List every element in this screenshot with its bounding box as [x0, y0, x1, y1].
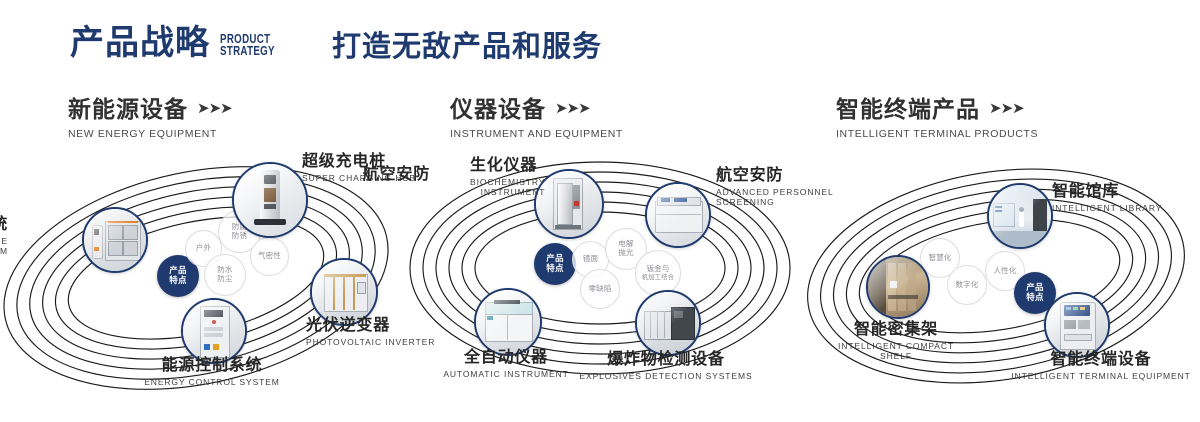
diagram-instrument: 产品 特点 镜面 电解 抛光 零缺陷 钣金与 机加工结合 [400, 150, 800, 420]
section-title-new-energy: 新能源设备➤➤➤ NEW ENERGY EQUIPMENT [68, 98, 232, 140]
feature-bubble-zero-defect: 零缺陷 [580, 269, 620, 309]
node-intelligent-compact-shelf[interactable] [866, 255, 930, 319]
chevron-right-icon: ➤➤➤ [989, 99, 1024, 117]
brand-title: 产品战略 PRODUCT STRATEGY [70, 26, 290, 60]
slide-canvas: 产品战略 PRODUCT STRATEGY 打造无敌产品和服务 新能源设备➤➤➤… [0, 0, 1200, 422]
label-en-line2: INSTRUMENT [470, 187, 545, 198]
section-title-en: INTELLIGENT TERMINAL PRODUCTS [836, 128, 1038, 140]
section-title-instrument: 仪器设备➤➤➤ INSTRUMENT AND EQUIPMENT [450, 98, 623, 140]
feature-core-product-traits: 产品 特点 [534, 243, 576, 285]
section-title-intelligent-terminal: 智能终端产品➤➤➤ INTELLIGENT TERMINAL PRODUCTS [836, 98, 1038, 140]
diagram-new-energy: 产品 特点 户外 防腐 防锈 防水 防尘 气密性 [0, 150, 400, 420]
core-line2: 特点 [1026, 293, 1044, 303]
node-automatic-instrument[interactable] [474, 288, 542, 356]
feature-bubble-sheetmetal-machining: 钣金与 机加工结合 [635, 250, 681, 296]
core-line2: 特点 [546, 264, 564, 274]
feature-bubble-airtightness: 气密性 [250, 237, 289, 276]
label-energy-control-system: 能源控制系统 ENERGY CONTROL SYSTEM [82, 358, 342, 387]
section-title-en: NEW ENERGY EQUIPMENT [68, 128, 232, 140]
label-biochemistry-instrument: 生化仪器 BIOCHEMISTRY INSTRUMENT [470, 158, 545, 198]
chevron-right-icon: ➤➤➤ [197, 99, 232, 117]
label-aviation-security: 航空安防 [320, 167, 430, 184]
brand-title-en-line2: STRATEGY [220, 45, 275, 58]
section-title-cn: 新能源设备 [68, 98, 188, 121]
label-intelligent-terminal-equipment: 智能终端设备 INTELLIGENT TERMINAL EQUIPMENT [986, 352, 1200, 381]
label-energy-storage-system: 储能系统 ENERGY STORAGE SYSTEM [0, 217, 8, 257]
chevron-right-icon: ➤➤➤ [555, 99, 590, 117]
node-photovoltaic-inverter[interactable] [310, 258, 378, 326]
label-explosives-detection-systems: 爆炸物检测设备 EXPLOSIVES DETECTION SYSTEMS [556, 352, 776, 381]
node-super-charging-hub[interactable] [232, 162, 308, 238]
node-advanced-personnel-screening[interactable] [645, 182, 711, 248]
brand-title-cn: 产品战略 [70, 26, 210, 60]
label-en-line1: ENERGY STORAGE [0, 236, 8, 247]
label-en-line1: BIOCHEMISTRY [470, 177, 545, 188]
diagram-intelligent-terminal: 智慧化 数字化 人性化 产品 特点 智能馆库 [790, 150, 1190, 420]
node-intelligent-terminal-equipment[interactable] [1044, 292, 1110, 358]
brand-title-en: PRODUCT STRATEGY [220, 33, 275, 59]
section-title-cn: 智能终端产品 [836, 98, 980, 121]
label-intelligent-library: 智能馆库 INTELLIGENT LIBRARY [1052, 184, 1162, 213]
feature-bubble-waterproof: 防水 防尘 [204, 254, 246, 296]
label-intelligent-compact-shelf: 智能密集架 INTELLIGENT COMPACT SHELF [806, 322, 986, 362]
section-title-cn: 仪器设备 [450, 98, 546, 121]
feature-bubble-digital: 数字化 [947, 265, 987, 305]
node-energy-control-system[interactable] [181, 298, 247, 364]
label-en-line2: SHELF [806, 351, 986, 362]
node-explosives-detection-systems[interactable] [635, 290, 701, 356]
node-intelligent-library[interactable] [987, 183, 1053, 249]
headline: 打造无敌产品和服务 [332, 33, 602, 62]
core-line2: 特点 [169, 276, 187, 286]
section-title-en: INSTRUMENT AND EQUIPMENT [450, 128, 623, 140]
label-en-line1: INTELLIGENT COMPACT [806, 341, 986, 352]
label-en-line2: SYSTEM [0, 246, 8, 257]
node-energy-storage-system[interactable] [82, 207, 148, 273]
brand-title-en-line1: PRODUCT [220, 33, 275, 46]
